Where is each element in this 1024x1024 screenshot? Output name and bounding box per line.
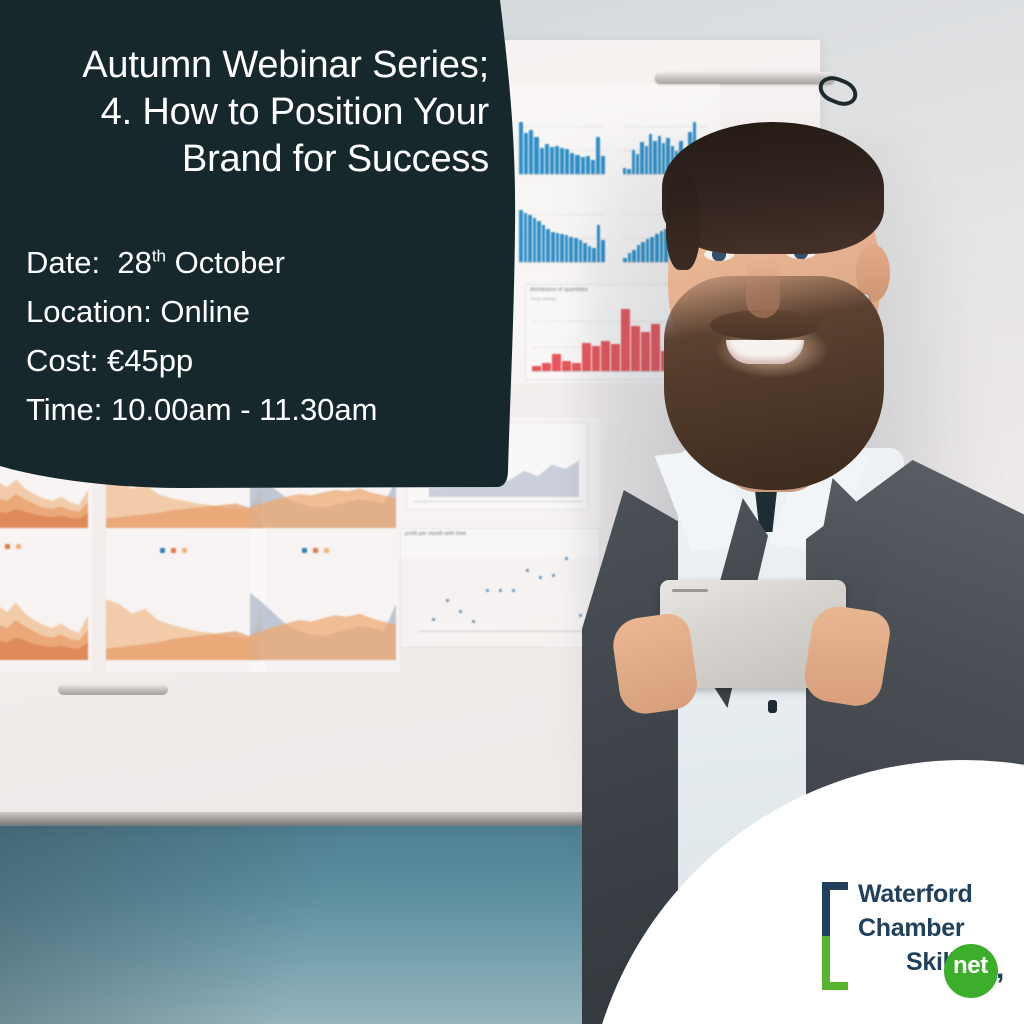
area-series	[106, 580, 262, 660]
detail-cost: Cost: €45pp	[26, 336, 496, 385]
area-series	[250, 580, 396, 660]
logo-net-text: net	[953, 952, 988, 980]
chart-legend	[302, 548, 329, 553]
date-label: Date:	[26, 245, 100, 280]
bracket-icon	[822, 882, 848, 990]
shirt-button	[768, 700, 777, 713]
hair	[662, 122, 884, 254]
event-details: Date: 28th October Location: Online Cost…	[26, 238, 496, 434]
waterford-chamber-skillnet-logo: Waterford Chamber Skill net ,	[822, 882, 1012, 994]
title-line-3: Brand for Success	[18, 136, 489, 183]
bracket-top-icon	[822, 882, 848, 936]
date-suffix: th	[152, 247, 166, 266]
detail-date: Date: 28th October	[26, 238, 496, 287]
area-series	[0, 580, 88, 660]
title-line-2: 4. How to Position Your	[18, 89, 489, 136]
logo-line-chamber: Chamber	[858, 914, 964, 943]
title-line-1: Autumn Webinar Series;	[18, 42, 489, 89]
date-day: 28	[117, 245, 151, 280]
date-month: October	[175, 245, 285, 280]
scatter-title: profit per month with time	[405, 531, 466, 537]
chart-legend	[160, 548, 187, 553]
detail-time: Time: 10.00am - 11.30am	[26, 385, 496, 434]
page-title: Autumn Webinar Series; 4. How to Positio…	[18, 42, 503, 183]
chart-sheet-left-1	[0, 452, 92, 672]
histogram-subtitle: Group average	[530, 296, 557, 301]
smile	[726, 340, 804, 364]
detail-location: Location: Online	[26, 287, 496, 336]
whiteboard-pen-rail-icon	[58, 684, 168, 695]
logo-comma: ,	[996, 952, 1004, 986]
hand-left	[610, 611, 701, 717]
chart-legend	[0, 544, 21, 549]
bracket-bottom-icon	[822, 936, 848, 990]
nose	[746, 256, 780, 318]
webinar-promo-poster: distribution of quantities Group average…	[0, 0, 1024, 1024]
logo-line-waterford: Waterford	[858, 880, 972, 909]
